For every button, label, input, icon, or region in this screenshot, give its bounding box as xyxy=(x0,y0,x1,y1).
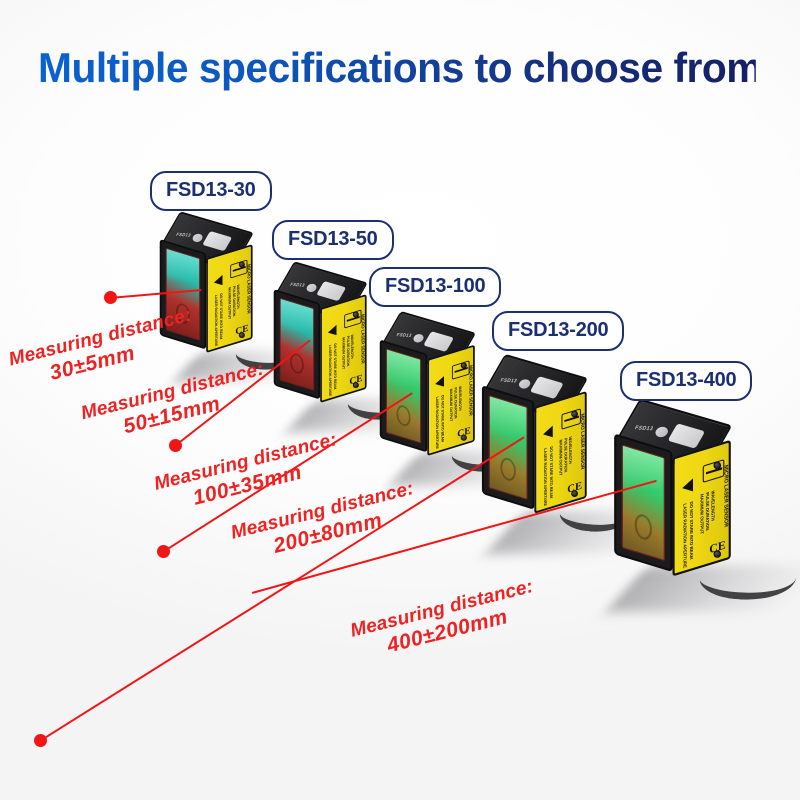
indicator-led xyxy=(517,378,532,390)
indicator-led xyxy=(412,333,426,344)
measuring-distance-caption-1: Measuring distance: 30±5mm xyxy=(7,311,174,395)
housing-screw xyxy=(239,332,245,338)
lens-ring xyxy=(500,456,515,483)
sensor-front-face xyxy=(274,289,320,400)
indicator-led xyxy=(305,283,318,293)
model-label-fsd13-50[interactable]: FSD13-50 xyxy=(272,220,394,260)
spec-text-3: WAVELENGTH xyxy=(568,436,573,465)
warning-text-1: LASER RADIATION APERTURE xyxy=(328,344,332,397)
beam-direction-arrow-icon xyxy=(435,376,444,389)
brand-text: FSD13 xyxy=(289,282,305,288)
lens-ring xyxy=(396,404,410,428)
model-label-fsd13-400[interactable]: FSD13-400 xyxy=(620,361,752,401)
beam-direction-arrow-icon xyxy=(543,426,553,441)
product-specification-image: Multiple specifications to choose from F… xyxy=(0,0,800,800)
spec-text-3: WAVELENGTH xyxy=(350,334,354,359)
warning-text-2: DO NOT STARE INTO BEAM xyxy=(219,293,223,340)
beam-direction-arrow-icon xyxy=(328,325,337,338)
warning-text-2: DO NOT STARE INTO BEAM xyxy=(333,343,337,390)
page-title: Multiple specifications to choose from xyxy=(38,44,756,92)
warning-text-2: DO NOT STARE INTO BEAM xyxy=(689,501,694,560)
spec-text-3: WAVELENGTH xyxy=(710,490,715,522)
model-label-fsd13-100[interactable]: FSD13-100 xyxy=(369,267,501,307)
indicator-led xyxy=(191,233,204,243)
housing-screw xyxy=(571,411,578,418)
spec-text-3: WAVELENGTH xyxy=(236,284,240,309)
side-label-title: MICRO LASER SENSOR xyxy=(246,264,251,315)
warning-text-1: LASER RADIATION APERTURE xyxy=(543,447,548,506)
warning-text-1: LASER RADIATION APERTURE xyxy=(682,503,687,569)
housing-screw xyxy=(714,550,722,558)
brand-text: FSD13 xyxy=(634,425,655,433)
warning-text-2: DO NOT STARE INTO BEAM xyxy=(549,446,554,499)
warning-text-1: LASER RADIATION APERTURE xyxy=(214,294,218,347)
housing-screw xyxy=(353,312,359,318)
lens-window xyxy=(280,298,314,391)
emitter-window xyxy=(202,231,232,251)
housing-screw xyxy=(461,435,467,441)
side-label-title: MICRO LASER SENSOR xyxy=(360,314,365,365)
model-label-fsd13-200[interactable]: FSD13-200 xyxy=(492,311,624,351)
side-label-title: MICRO LASER SENSOR xyxy=(722,464,728,528)
beam-endpoint-dot-1 xyxy=(104,291,117,304)
measuring-distance-caption-5: Measuring distance: 400±200mm xyxy=(337,573,552,670)
housing-screw xyxy=(239,262,245,268)
laser-sensor-fsd13-200: FSD13 MICRO LASER SENSOR LASER RADIATION… xyxy=(480,366,587,512)
beam-endpoint-dot-3 xyxy=(157,545,170,558)
housing-screw xyxy=(461,362,467,368)
laser-sensor-fsd13-400: FSD13 MICRO LASER SENSOR LASER RADIATION… xyxy=(612,412,731,574)
sensor-front-face xyxy=(614,433,672,572)
housing-screw xyxy=(714,462,722,470)
beam-endpoint-dot-4 xyxy=(34,734,47,747)
indicator-led xyxy=(653,426,670,439)
lens-window xyxy=(622,444,665,561)
side-label-title: MICRO LASER SENSOR xyxy=(468,365,473,417)
housing-screw xyxy=(353,382,359,388)
beam-direction-arrow-icon xyxy=(682,478,693,494)
sensor-side-label-face: MICRO LASER SENSOR LASER RADIATION APERT… xyxy=(534,391,586,514)
side-label-title: MICRO LASER SENSOR xyxy=(579,413,585,471)
laser-sensor-fsd13-50: FSD13 MICRO LASER SENSOR LASER RADIATION… xyxy=(272,272,367,401)
brand-text: FSD13 xyxy=(396,332,413,338)
measuring-distance-caption-2: Measuring distance: 50±15mm xyxy=(79,362,260,450)
lens-ring xyxy=(634,512,651,542)
sensor-side-label-face: MICRO LASER SENSOR LASER RADIATION APERT… xyxy=(672,440,730,577)
brand-text: FSD13 xyxy=(499,378,518,385)
sensor-side-label-face: MICRO LASER SENSOR LASER RADIATION APERT… xyxy=(320,294,366,403)
housing-screw xyxy=(571,490,578,497)
emitter-window xyxy=(668,423,706,448)
beam-direction-arrow-icon xyxy=(214,275,223,288)
beam-endpoint-dot-2 xyxy=(169,439,182,452)
laser-sensor-fsd13-30: FSD13 MICRO LASER SENSOR LASER RADIATION… xyxy=(158,222,253,351)
brand-text: FSD13 xyxy=(175,232,191,238)
spec-text-3: WAVELENGTH xyxy=(458,385,462,411)
emitter-window xyxy=(316,281,346,301)
emitter-window xyxy=(423,331,454,352)
emitter-window xyxy=(530,376,564,399)
sensor-side-label-face: MICRO LASER SENSOR LASER RADIATION APERT… xyxy=(427,345,475,456)
warning-text-2: DO NOT STARE INTO BEAM xyxy=(440,394,444,442)
sensor-side-label-face: MICRO LASER SENSOR LASER RADIATION APERT… xyxy=(206,244,252,353)
model-label-fsd13-30[interactable]: FSD13-30 xyxy=(150,171,272,211)
warning-text-1: LASER RADIATION APERTURE xyxy=(435,396,439,450)
laser-sensor-fsd13-100: FSD13 MICRO LASER SENSOR LASER RADIATION… xyxy=(378,322,475,454)
